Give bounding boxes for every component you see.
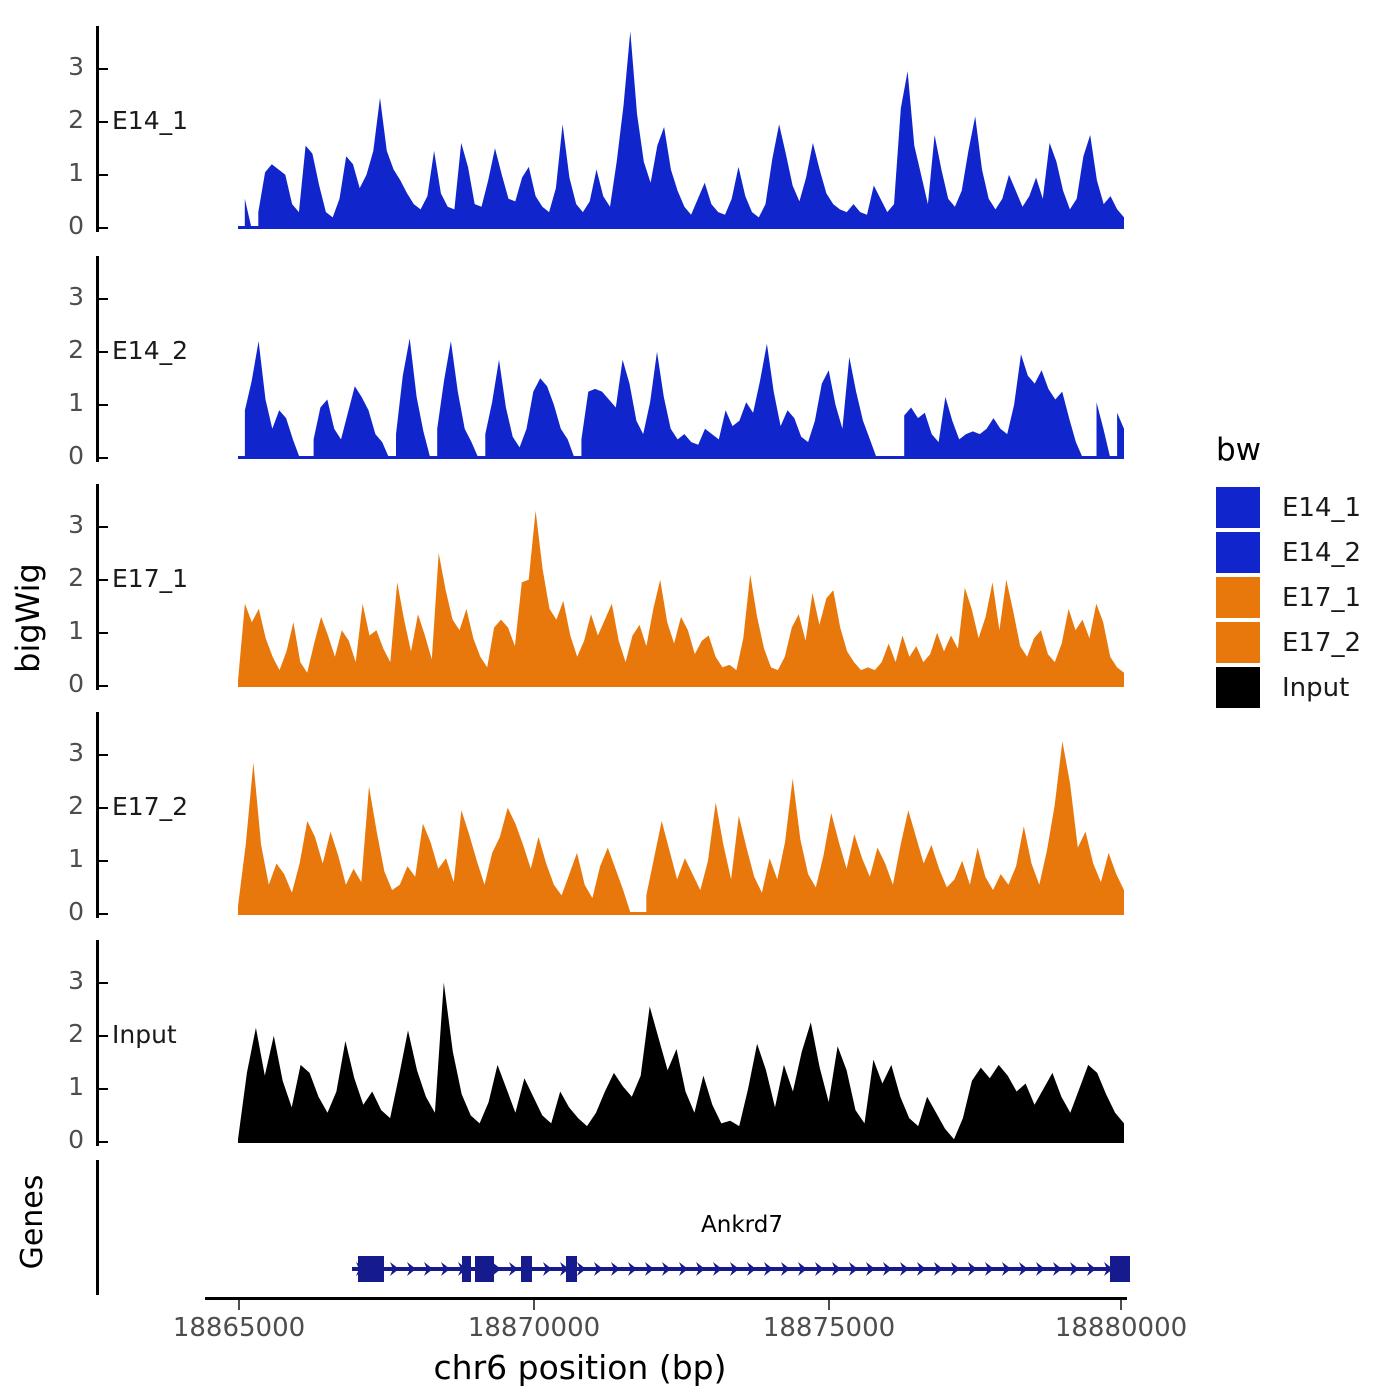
y-tick-label: 3 — [36, 738, 84, 767]
x-tick-label: 18865000 — [173, 1313, 305, 1343]
y-tick-label: 1 — [36, 616, 84, 645]
y-tick-label: 3 — [36, 52, 84, 81]
track-panel-e14_2: 0123E14_2 — [0, 256, 1160, 464]
y-tick — [99, 982, 108, 984]
y-tick-label: 0 — [36, 211, 84, 240]
y-tick-label: 3 — [36, 966, 84, 995]
legend-item-e17_1[interactable]: E17_1 — [1216, 576, 1361, 619]
track-panel-input: 0123Input — [0, 940, 1160, 1148]
genome-browser-figure: bigWig Genes 0123E14_10123E14_20123E17_1… — [0, 0, 1400, 1400]
y-tick — [99, 1088, 108, 1090]
x-tick — [533, 1300, 535, 1310]
y-tick — [99, 754, 108, 756]
legend-item-e14_1[interactable]: E14_1 — [1216, 486, 1361, 529]
y-tick — [99, 632, 108, 634]
y-tick-label: 1 — [36, 158, 84, 187]
track-area-e17_1 — [238, 484, 1124, 689]
legend-title: bw — [1216, 432, 1361, 468]
legend-item-input[interactable]: Input — [1216, 666, 1361, 709]
legend-swatch — [1216, 622, 1260, 663]
track-panel-e14_1: 0123E14_1 — [0, 26, 1160, 234]
y-tick-label: 1 — [36, 844, 84, 873]
legend-swatch — [1216, 487, 1260, 528]
x-tick — [828, 1300, 830, 1310]
track-label-input: Input — [112, 1020, 177, 1049]
y-axis-line — [96, 26, 99, 232]
y-axis-line — [96, 940, 99, 1146]
y-tick — [99, 457, 108, 459]
x-tick-label: 18875000 — [763, 1313, 895, 1343]
y-tick — [99, 227, 108, 229]
y-tick — [99, 351, 108, 353]
y-tick — [99, 860, 108, 862]
genes-panel: Ankrd7 — [0, 1160, 1160, 1295]
y-tick-label: 2 — [36, 791, 84, 820]
legend-item-e17_2[interactable]: E17_2 — [1216, 621, 1361, 664]
y-tick — [99, 404, 108, 406]
y-tick-label: 1 — [36, 1072, 84, 1101]
track-label-e17_1: E17_1 — [112, 564, 188, 593]
y-tick — [99, 1141, 108, 1143]
track-area-e17_2 — [238, 712, 1124, 917]
y-tick-label: 0 — [36, 669, 84, 698]
legend-label: E17_1 — [1282, 583, 1361, 613]
y-tick — [99, 68, 108, 70]
x-tick-label: 18870000 — [468, 1313, 600, 1343]
y-tick — [99, 807, 108, 809]
legend-label: E17_2 — [1282, 628, 1361, 658]
legend-label: E14_1 — [1282, 493, 1361, 523]
y-tick — [99, 174, 108, 176]
y-tick — [99, 1035, 108, 1037]
x-axis-title: chr6 position (bp) — [0, 1348, 1160, 1387]
y-tick-label: 3 — [36, 282, 84, 311]
legend-swatch — [1216, 667, 1260, 708]
y-tick-label: 0 — [36, 441, 84, 470]
y-tick — [99, 913, 108, 915]
track-area-e14_2 — [238, 256, 1124, 461]
y-tick-label: 2 — [36, 563, 84, 592]
legend: bw E14_1E14_2E17_1E17_2Input — [1216, 432, 1361, 711]
track-panel-e17_2: 0123E17_2 — [0, 712, 1160, 920]
y-tick — [99, 121, 108, 123]
y-axis-line — [96, 484, 99, 690]
y-tick-label: 2 — [36, 105, 84, 134]
y-tick-label: 2 — [36, 335, 84, 364]
legend-item-e14_2[interactable]: E14_2 — [1216, 531, 1361, 574]
y-tick-label: 3 — [36, 510, 84, 539]
legend-items: E14_1E14_2E17_1E17_2Input — [1216, 486, 1361, 709]
track-panel-e17_1: 0123E17_1 — [0, 484, 1160, 692]
y-tick — [99, 526, 108, 528]
y-tick-label: 0 — [36, 897, 84, 926]
x-tick-label: 18880000 — [1055, 1313, 1187, 1343]
x-tick — [1120, 1300, 1122, 1310]
legend-label: E14_2 — [1282, 538, 1361, 568]
track-area-e14_1 — [238, 26, 1124, 231]
x-tick — [238, 1300, 240, 1310]
gene-model[interactable] — [0, 1160, 1160, 1295]
track-area-input — [238, 940, 1124, 1145]
y-tick-label: 2 — [36, 1019, 84, 1048]
track-label-e17_2: E17_2 — [112, 792, 188, 821]
legend-label: Input — [1282, 673, 1349, 703]
track-label-e14_1: E14_1 — [112, 106, 188, 135]
x-axis-line — [205, 1297, 1127, 1300]
legend-swatch — [1216, 577, 1260, 618]
track-label-e14_2: E14_2 — [112, 336, 188, 365]
y-tick-label: 1 — [36, 388, 84, 417]
y-tick — [99, 579, 108, 581]
y-axis-line — [96, 712, 99, 918]
y-tick-label: 0 — [36, 1125, 84, 1154]
y-axis-line — [96, 256, 99, 462]
legend-swatch — [1216, 532, 1260, 573]
y-tick — [99, 298, 108, 300]
y-tick — [99, 685, 108, 687]
